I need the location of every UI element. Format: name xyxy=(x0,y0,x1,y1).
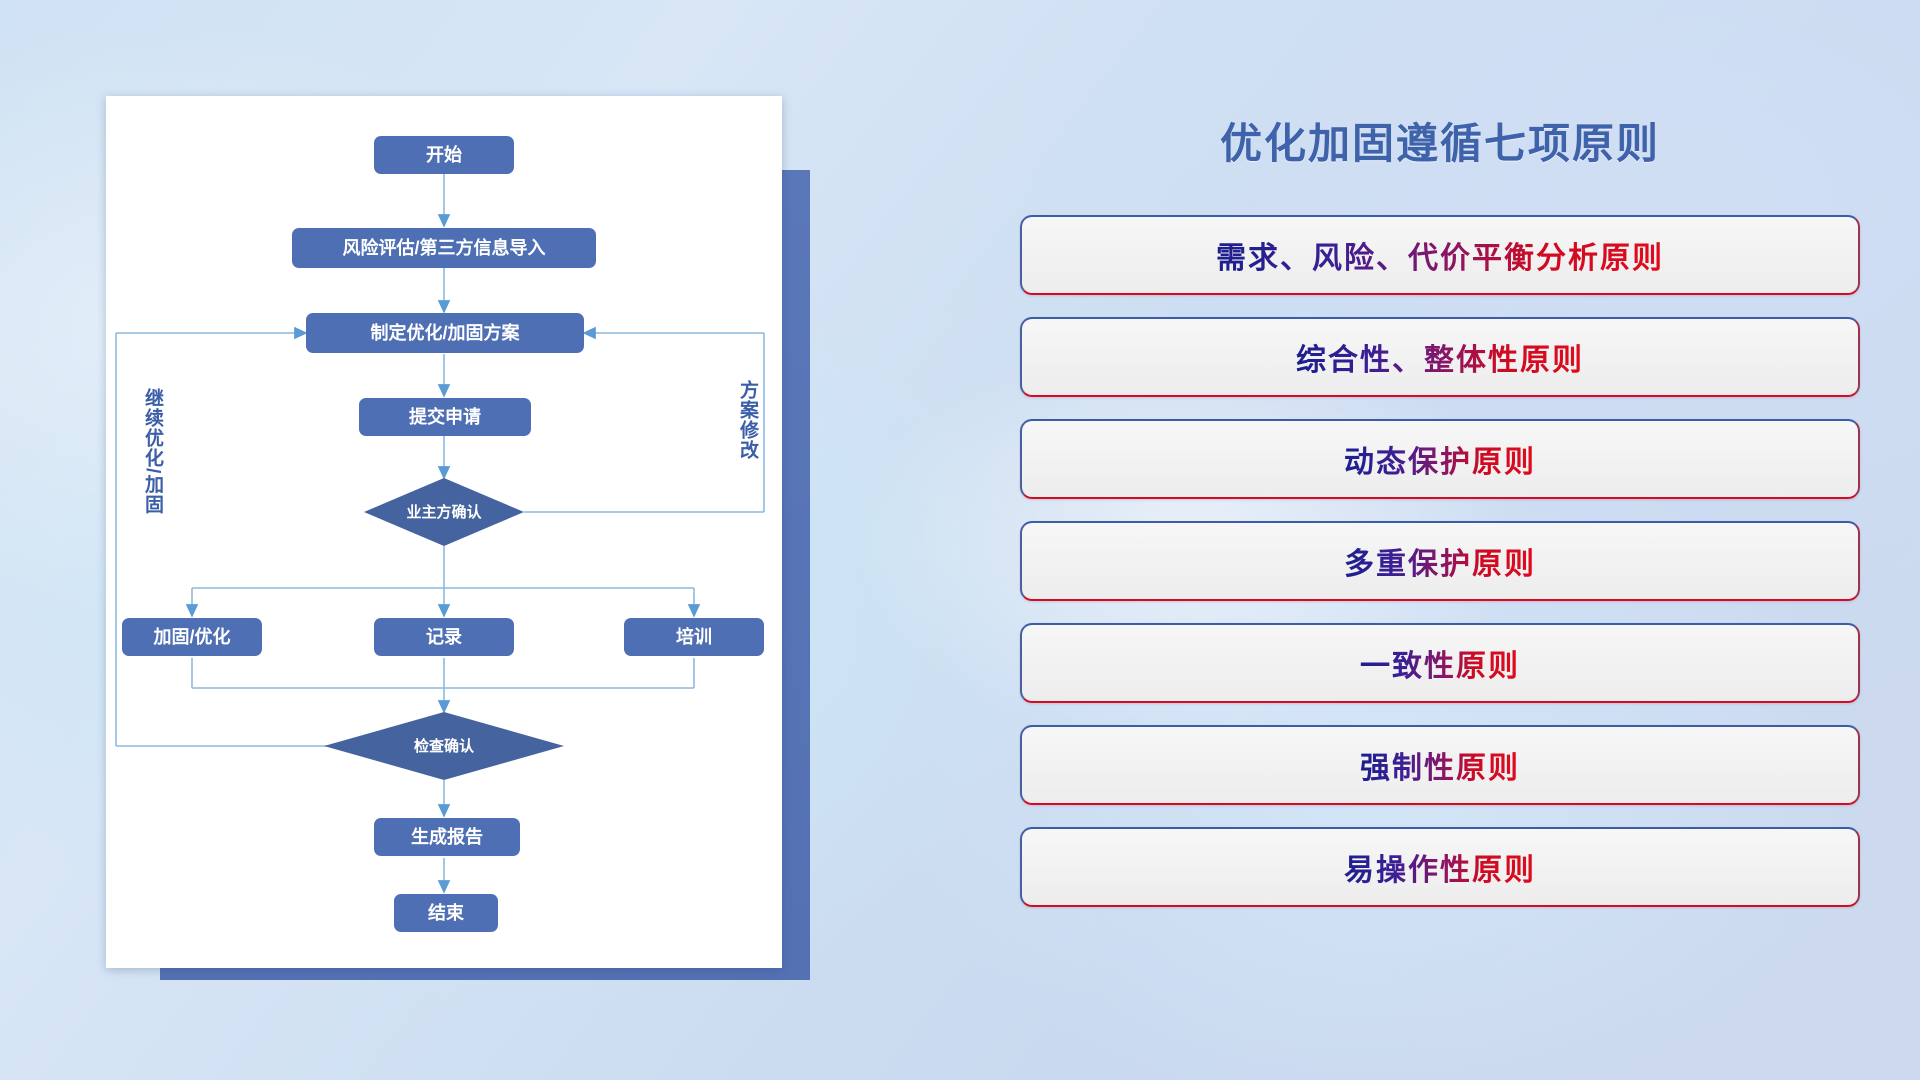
list-item[interactable]: 一致性原则 xyxy=(1020,623,1860,703)
flow-label-continue-optimize: 继续优化/加固 xyxy=(143,388,162,514)
flow-node-risk: 风险评估/第三方信息导入 xyxy=(292,228,596,268)
flow-label-plan-revision: 方案修改 xyxy=(738,380,757,460)
list-item[interactable]: 多重保护原则 xyxy=(1020,521,1860,601)
principle-label: 易操作性原则 xyxy=(1344,845,1536,889)
flow-node-label: 开始 xyxy=(426,144,462,165)
flow-node-owner-confirm: 业主方确认 xyxy=(364,478,524,546)
flowchart-diagram: 开始 风险评估/第三方信息导入 制定优化/加固方案 提交申请 业主方确认 加固/… xyxy=(106,96,782,968)
list-item[interactable]: 动态保护原则 xyxy=(1020,419,1860,499)
principle-label: 综合性、整体性原则 xyxy=(1296,335,1584,379)
flow-node-end: 结束 xyxy=(394,894,498,932)
flow-node-train: 培训 xyxy=(624,618,764,656)
flow-node-label: 风险评估/第三方信息导入 xyxy=(343,237,546,258)
flow-node-label: 生成报告 xyxy=(411,826,483,847)
flow-node-label: 加固/优化 xyxy=(152,626,230,647)
flow-node-start: 开始 xyxy=(374,136,514,174)
flow-node-label: 培训 xyxy=(676,626,712,647)
flow-node-label: 提交申请 xyxy=(409,406,481,427)
flow-node-submit: 提交申请 xyxy=(359,398,531,436)
flow-node-label: 制定优化/加固方案 xyxy=(370,322,520,343)
principles-list: 需求、风险、代价平衡分析原则 综合性、整体性原则 动态保护原则 多重保护原则 一… xyxy=(1020,215,1860,907)
principles-panel: 优化加固遵循七项原则 需求、风险、代价平衡分析原则 综合性、整体性原则 动态保护… xyxy=(1020,96,1860,996)
list-item[interactable]: 强制性原则 xyxy=(1020,725,1860,805)
flow-node-label: 业主方确认 xyxy=(406,503,482,521)
principle-label: 多重保护原则 xyxy=(1344,539,1536,583)
principle-label: 需求、风险、代价平衡分析原则 xyxy=(1216,233,1664,277)
list-item[interactable]: 易操作性原则 xyxy=(1020,827,1860,907)
list-item[interactable]: 综合性、整体性原则 xyxy=(1020,317,1860,397)
flow-node-record: 记录 xyxy=(374,618,514,656)
flow-node-label: 记录 xyxy=(426,627,462,647)
principle-label: 一致性原则 xyxy=(1360,641,1520,685)
flow-node-report: 生成报告 xyxy=(374,818,520,856)
flow-node-check: 检查确认 xyxy=(324,712,564,780)
page-title: 优化加固遵循七项原则 xyxy=(1020,96,1860,171)
flow-node-plan: 制定优化/加固方案 xyxy=(306,313,584,353)
list-item[interactable]: 需求、风险、代价平衡分析原则 xyxy=(1020,215,1860,295)
flow-node-reinforce: 加固/优化 xyxy=(122,618,262,656)
principle-label: 强制性原则 xyxy=(1360,743,1520,787)
principle-label: 动态保护原则 xyxy=(1344,437,1536,481)
flow-node-label: 检查确认 xyxy=(414,737,475,755)
flow-node-label: 结束 xyxy=(428,902,465,923)
